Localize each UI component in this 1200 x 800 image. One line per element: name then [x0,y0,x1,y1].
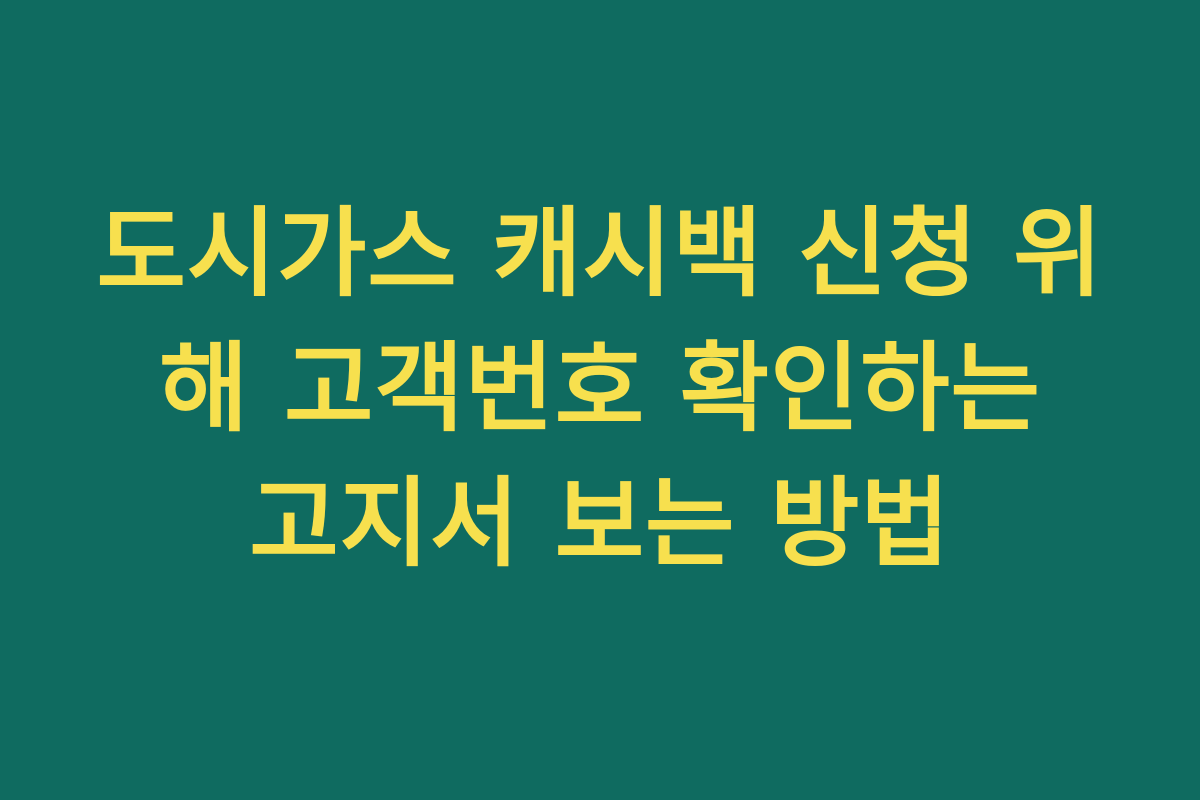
thumbnail-banner: 도시가스 캐시백 신청 위 해 고객번호 확인하는 고지서 보는 방법 [0,0,1200,800]
title-line-3: 고지서 보는 방법 [65,456,1135,591]
title-line-1: 도시가스 캐시백 신청 위 [65,186,1135,321]
title-line-2: 해 고객번호 확인하는 [65,321,1135,456]
page-title: 도시가스 캐시백 신청 위 해 고객번호 확인하는 고지서 보는 방법 [65,186,1135,591]
